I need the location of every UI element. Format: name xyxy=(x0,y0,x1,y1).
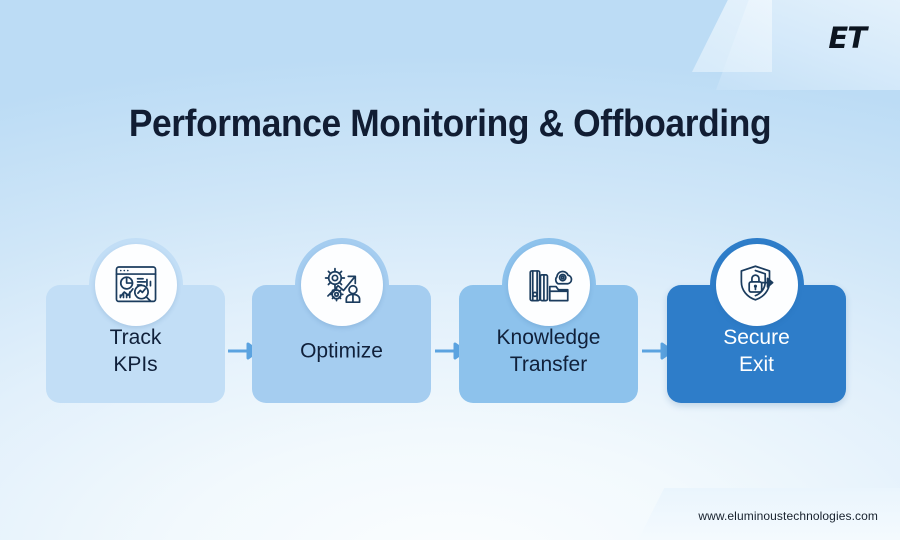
flow-step-secure-exit[interactable]: Secure Exit xyxy=(667,285,846,403)
step-label-line1: Track xyxy=(46,325,225,352)
flow-step-track-kpis[interactable]: Track KPIs xyxy=(46,285,225,403)
decorative-corner-panel-secondary xyxy=(692,0,772,72)
step-label-line2: Exit xyxy=(667,352,846,379)
process-flow: Track KPIs xyxy=(46,218,846,408)
brand-logo: ET xyxy=(828,21,866,55)
slide-canvas: ET Performance Monitoring & Offboarding xyxy=(0,0,900,540)
binders-cloud-folder-icon xyxy=(508,244,590,326)
flow-step-knowledge-transfer[interactable]: Knowledge Transfer xyxy=(459,285,638,403)
step-label-line2: Transfer xyxy=(459,352,638,379)
step-label-line1: Secure xyxy=(667,325,846,352)
step-label-line2: KPIs xyxy=(46,352,225,379)
step-label-line1: Knowledge xyxy=(459,325,638,352)
gear-growth-person-icon xyxy=(301,244,383,326)
website-url: www.eluminoustechnologies.com xyxy=(698,509,878,523)
shield-lock-exit-icon xyxy=(716,244,798,326)
flow-step-optimize[interactable]: Optimize xyxy=(252,285,431,403)
page-title: Performance Monitoring & Offboarding xyxy=(32,103,869,146)
analytics-dashboard-icon xyxy=(95,244,177,326)
step-label-line1: Optimize xyxy=(252,339,431,366)
step-label: Optimize xyxy=(252,323,431,366)
